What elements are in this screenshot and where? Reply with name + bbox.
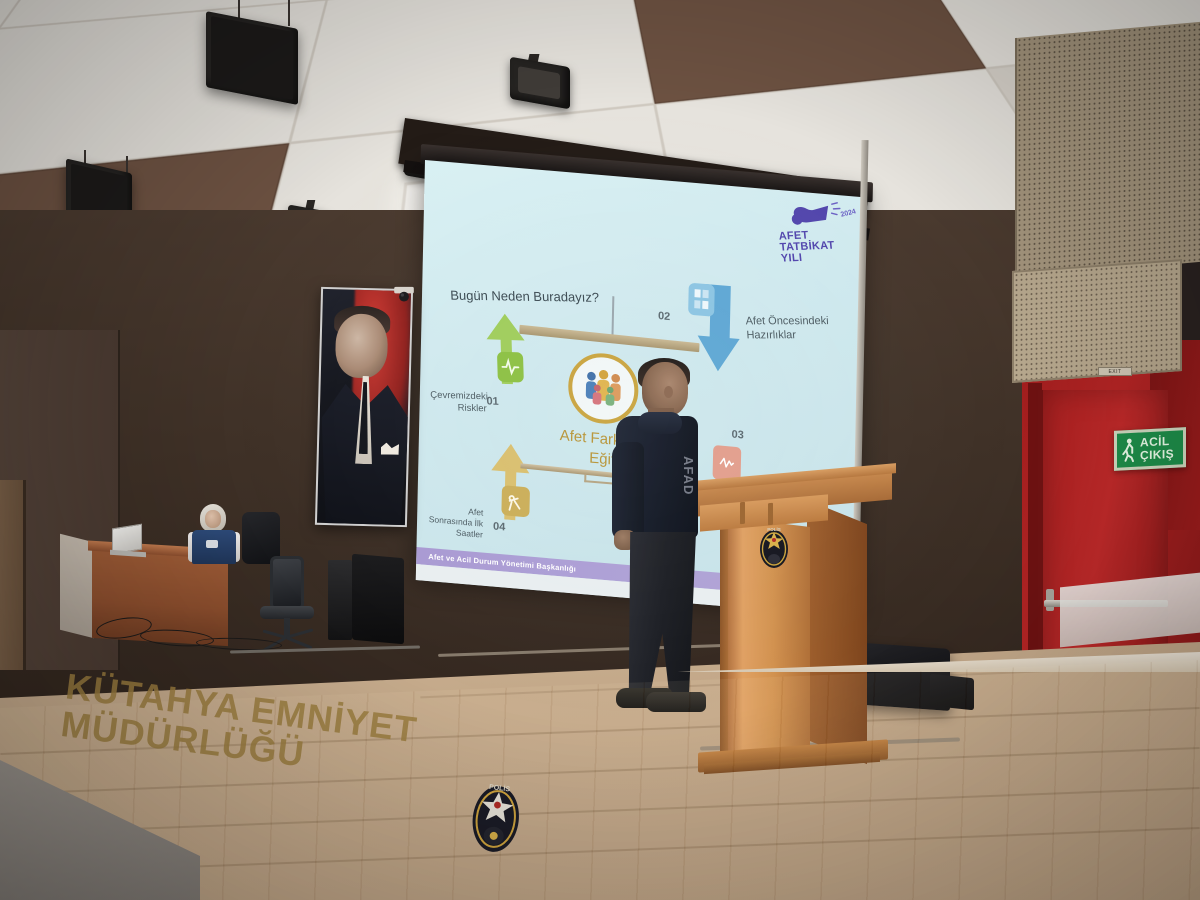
presenter-ear [664,386,673,398]
slide-item-04-label: Afet Sonrasında İlk Saatler [423,503,484,541]
logo-text: AFET TATBİKAT YILI [778,230,836,265]
seated-person-face [205,510,221,528]
screen-pole [611,296,614,338]
acoustic-mesh-panel [1012,259,1182,383]
item-01-line2: Riskler [431,402,487,416]
acoustic-mesh-panel [1015,22,1200,278]
screen-top-bar [519,325,699,352]
presenter-arm [612,442,644,540]
logo-line3: YILI [780,252,836,265]
presenter: AFAD [604,362,720,728]
slide-item-02-label: Afet Öncesindeki Hazırlıklar [745,314,857,343]
stage-police-emblem: POLİS [466,776,527,858]
podium-police-emblem: POLİS [758,525,790,569]
conference-hall-photo: EXIT ACİL ÇIKIŞ [0,0,1200,900]
side-speaker [328,560,352,640]
green-arrow-icon [480,305,530,385]
seated-person [188,504,244,566]
left-door[interactable] [0,480,26,670]
slide-item-03-number: 03 [731,429,744,442]
laptop[interactable] [112,526,146,556]
security-camera-icon [392,286,416,304]
running-person-icon [1121,437,1136,464]
podium-emblem-text: POLİS [767,526,781,532]
slide-item-04-number: 04 [493,520,506,533]
office-chair[interactable] [246,556,326,652]
item-01-line1: Çevremizdeki [430,390,486,404]
exit-sign-line2: ÇIKIŞ [1140,448,1174,462]
presenter-jacket-text: AFAD [670,456,696,494]
slide-heading: Bugün Neden Buradayız? [450,288,599,305]
speaker-chain [288,0,290,26]
slide-item-01-label: Çevremizdeki Riskler [430,390,487,417]
presenter-trousers [626,532,696,696]
emergency-exit-sign: ACİL ÇIKIŞ [1114,427,1186,471]
portrait-face [335,313,389,378]
item-04-line2: Sonrasında İlk Saatler [423,514,483,541]
item-02-line2: Hazırlıklar [746,328,857,343]
afet-tatbikat-yili-logo: 2024 AFET TATBİKAT YILI [777,196,859,275]
exit-sign-text: ACİL ÇIKIŞ [1140,435,1174,462]
slide-item-01-number: 01 [486,395,499,407]
chair-backrest [270,556,304,610]
item-02-line1: Afet Öncesindeki [745,314,856,329]
exit-plate-label: EXIT [1098,367,1132,376]
presenter-collar [638,412,682,434]
speaker-chain [126,156,128,174]
equipment-case [352,554,404,645]
seated-person-badge [206,540,218,548]
ataturk-portrait-banner [315,287,413,527]
slide-item-02-number: 02 [658,310,671,323]
